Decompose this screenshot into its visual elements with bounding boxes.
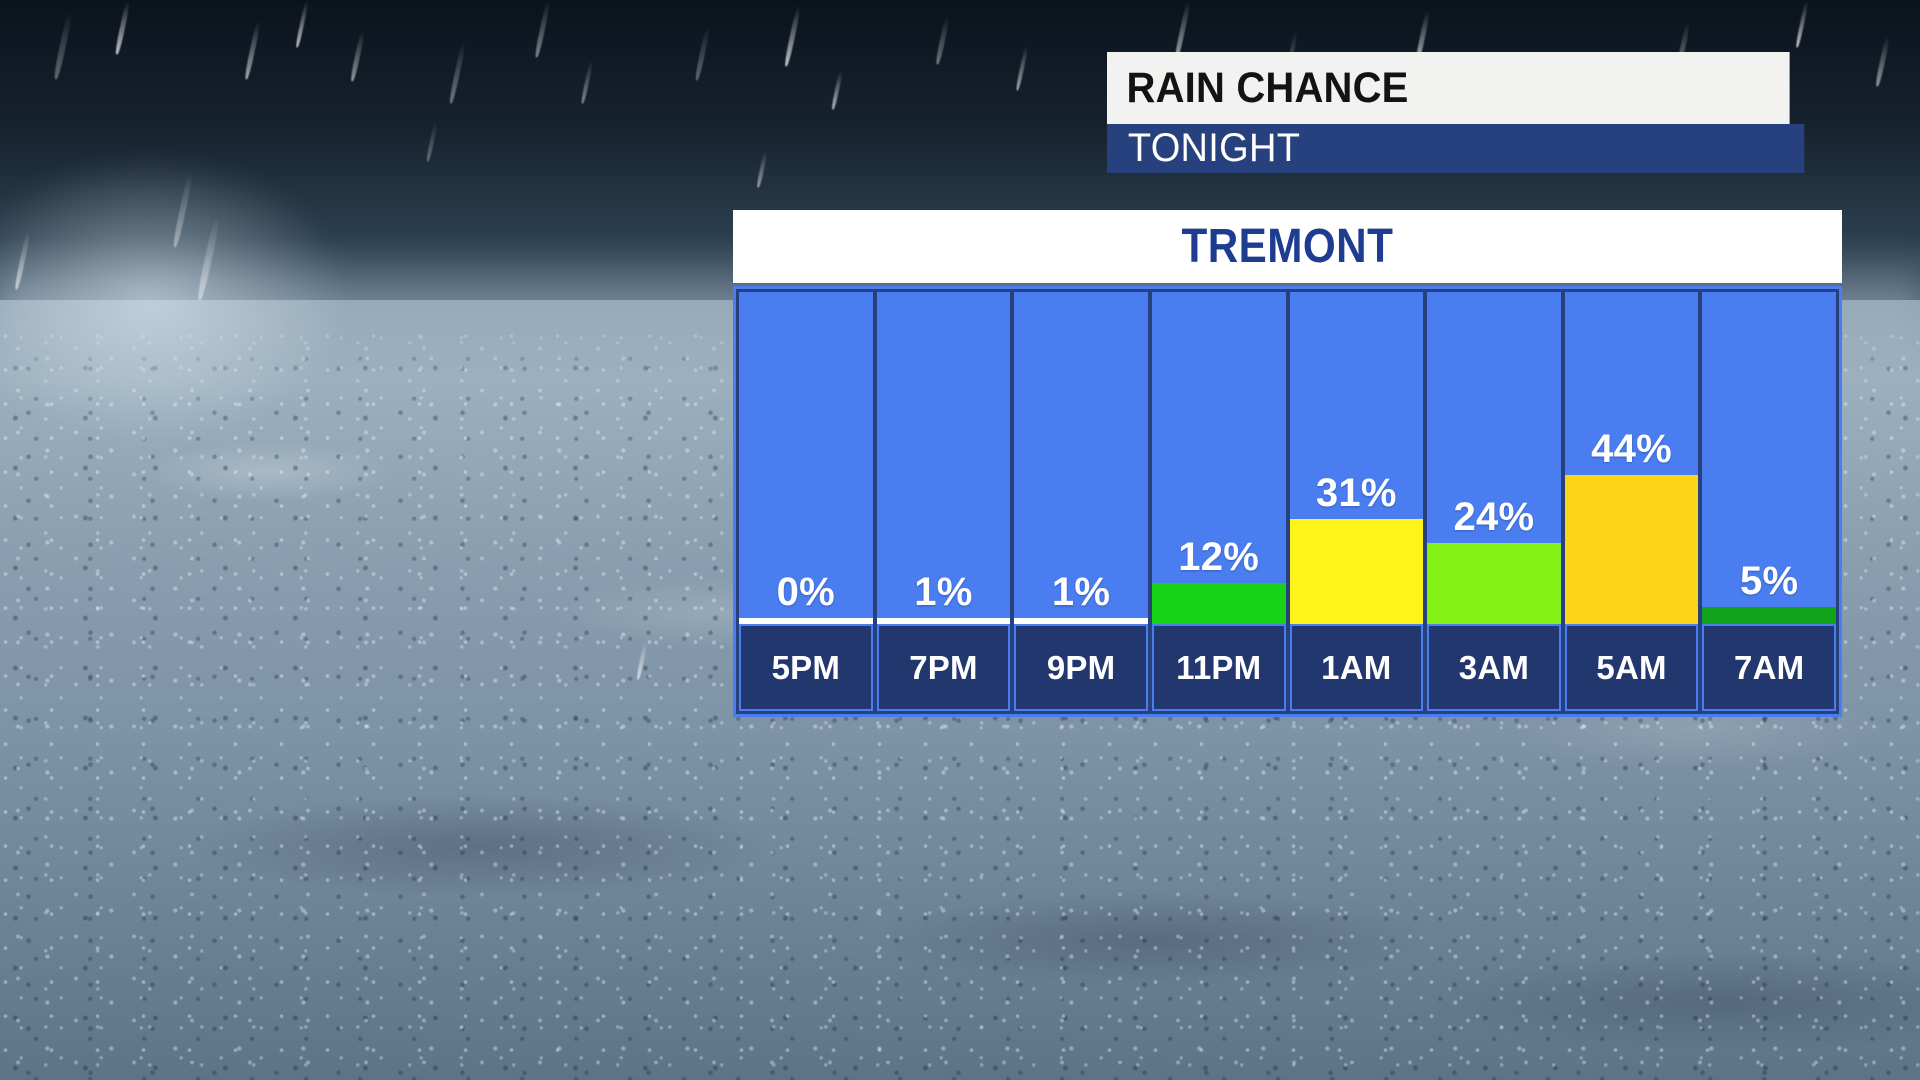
- chart-column: 0%5PM: [739, 292, 873, 711]
- time-label: 7PM: [877, 624, 1011, 711]
- city-name: TREMONT: [1182, 219, 1394, 274]
- chart-column: 1%7PM: [877, 292, 1011, 711]
- header-subtitle: TONIGHT: [1107, 124, 1804, 173]
- time-label: 11PM: [1152, 624, 1286, 711]
- time-label: 9PM: [1014, 624, 1148, 711]
- bar-track: 5%: [1702, 292, 1836, 624]
- weather-graphic-overlay: RAIN CHANCE TONIGHT TREMONT 0%5PM1%7PM1%…: [0, 0, 1920, 1080]
- chart-column: 5%7AM: [1702, 292, 1836, 711]
- value-bar: [1014, 618, 1148, 624]
- value-bar: [1290, 519, 1424, 624]
- bar-track: 1%: [1014, 292, 1148, 624]
- value-bar: [877, 618, 1011, 624]
- bar-track: 24%: [1427, 292, 1561, 624]
- value-bar: [1427, 543, 1561, 624]
- bar-track: 31%: [1290, 292, 1424, 624]
- bar-track: 12%: [1152, 292, 1286, 624]
- value-bar: [1565, 475, 1699, 624]
- chart-column: 44%5AM: [1565, 292, 1699, 711]
- value-label: 44%: [1565, 429, 1699, 469]
- time-label: 1AM: [1290, 624, 1424, 711]
- chart-column: 31%1AM: [1290, 292, 1424, 711]
- value-label: 12%: [1152, 537, 1286, 577]
- chart-column: 24%3AM: [1427, 292, 1561, 711]
- time-label: 5AM: [1565, 624, 1699, 711]
- chart-column: 1%9PM: [1014, 292, 1148, 711]
- time-label: 5PM: [739, 624, 873, 711]
- value-label: 5%: [1702, 561, 1836, 601]
- value-label: 1%: [1014, 572, 1148, 612]
- value-bar: [1702, 607, 1836, 624]
- value-bar: [739, 618, 873, 624]
- value-label: 24%: [1427, 497, 1561, 537]
- value-bar: [1152, 583, 1286, 624]
- rain-chance-bar-chart: 0%5PM1%7PM1%9PM12%11PM31%1AM24%3AM44%5AM…: [733, 286, 1842, 717]
- header-panel: RAIN CHANCE TONIGHT: [1107, 52, 1841, 173]
- value-label: 1%: [877, 572, 1011, 612]
- bar-track: 0%: [739, 292, 873, 624]
- value-label: 31%: [1290, 473, 1424, 513]
- page-title: RAIN CHANCE: [1107, 52, 1790, 124]
- time-label: 7AM: [1702, 624, 1836, 711]
- city-name-bar: TREMONT: [733, 210, 1842, 283]
- bar-track: 1%: [877, 292, 1011, 624]
- time-label: 3AM: [1427, 624, 1561, 711]
- bar-track: 44%: [1565, 292, 1699, 624]
- value-label: 0%: [739, 572, 873, 612]
- chart-column: 12%11PM: [1152, 292, 1286, 711]
